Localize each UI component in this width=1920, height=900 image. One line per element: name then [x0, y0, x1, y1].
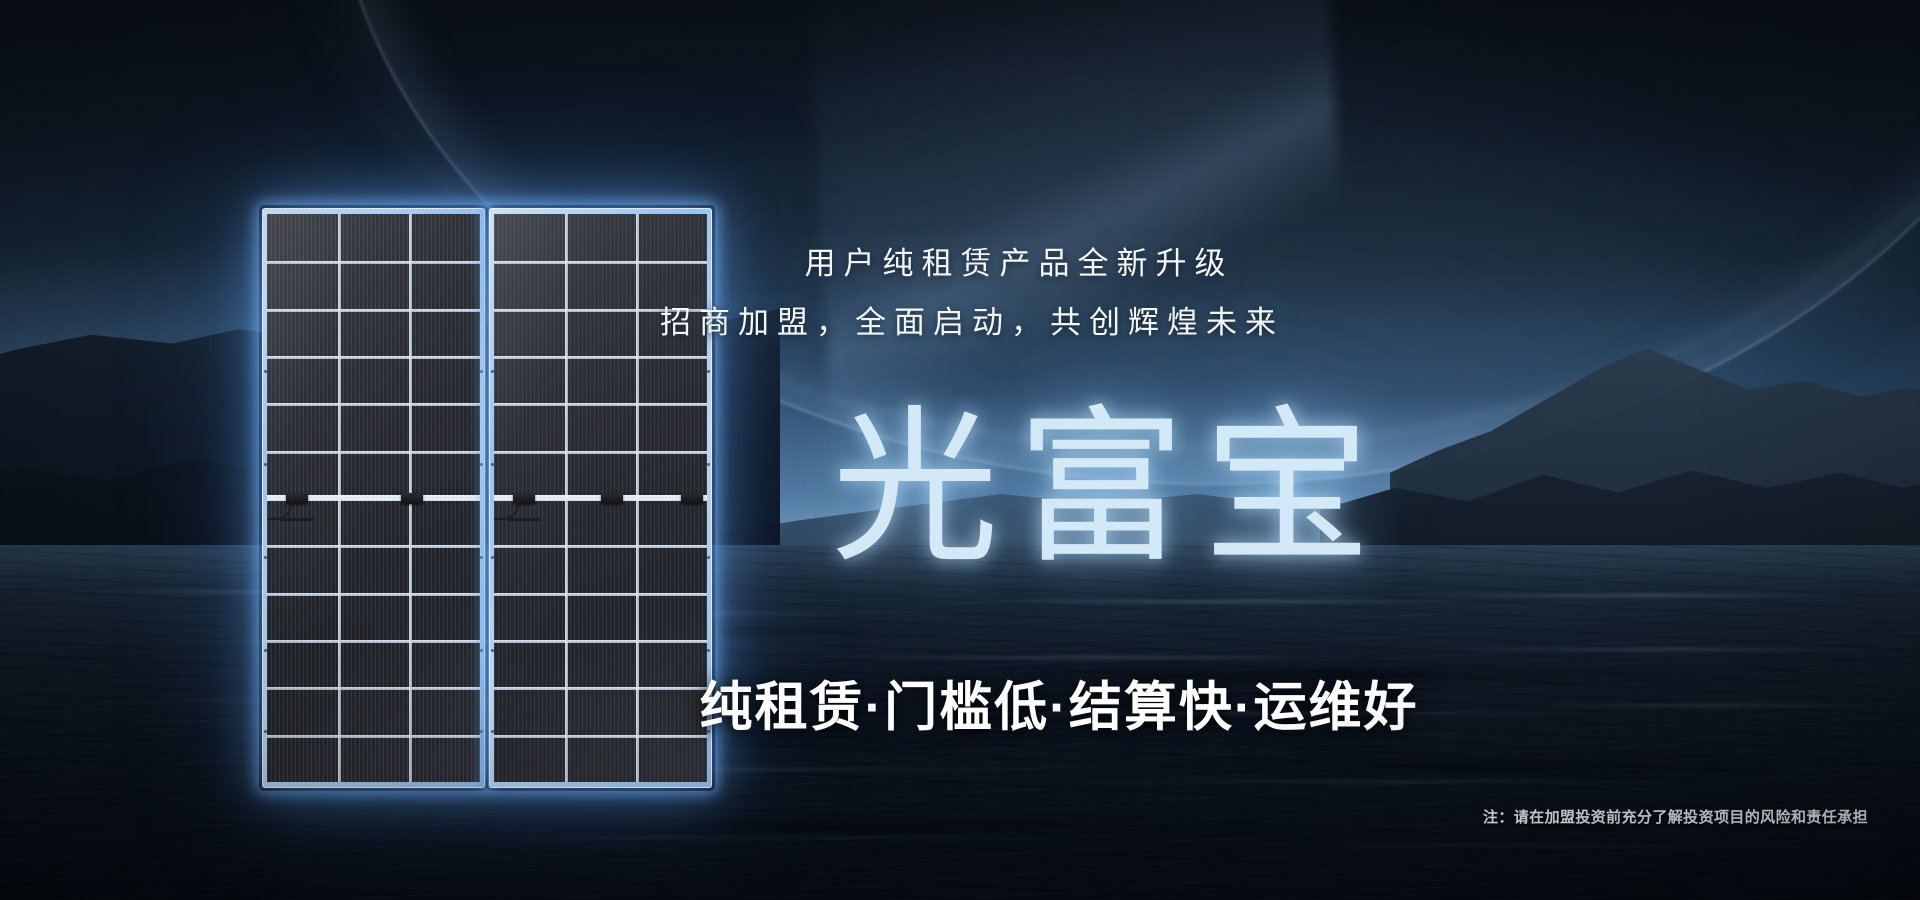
poster-canvas: 用户纯租赁产品全新升级 招商加盟，全面启动，共创辉煌未来 光富宝 纯租赁·门槛低…	[0, 0, 1920, 900]
junction-box	[601, 493, 623, 504]
water-wave	[900, 600, 1500, 603]
frame-screw	[480, 370, 483, 373]
disclaimer-note: 注：请在加盟投资前充分了解投资项目的风险和责任承担	[1483, 806, 1868, 827]
light-streak	[808, 0, 1352, 463]
frame-screw	[491, 730, 494, 733]
water-wave	[1380, 594, 1860, 597]
frame-screw	[480, 463, 483, 466]
water-shadow-band	[980, 668, 1700, 682]
water-wave	[240, 836, 1220, 839]
solar-panel-right	[489, 208, 712, 788]
water-wave	[760, 656, 1400, 659]
frame-screw	[707, 649, 710, 652]
water-shadow-band	[420, 820, 1320, 834]
water-shadow-band	[1160, 760, 1780, 774]
water-wave	[1020, 780, 1720, 783]
frame-screw	[264, 649, 267, 652]
frame-screw	[480, 556, 483, 559]
water-wave	[1500, 704, 1900, 707]
frame-screw	[707, 556, 710, 559]
frame-screw	[707, 730, 710, 733]
solar-panel-module	[262, 208, 712, 788]
frame-screw	[264, 730, 267, 733]
frame-screw	[707, 463, 710, 466]
panel-cable-lead	[280, 518, 314, 521]
solar-panel-left	[262, 208, 485, 788]
water-wave	[1200, 844, 1840, 847]
frame-screw	[491, 556, 494, 559]
frame-screw	[264, 556, 267, 559]
water-wave	[860, 712, 1620, 715]
junction-box	[401, 493, 423, 504]
junction-box	[681, 493, 703, 504]
water-wave	[1420, 648, 1880, 651]
panel-cable-lead	[507, 518, 541, 521]
frame-screw	[491, 649, 494, 652]
frame-screw	[480, 730, 483, 733]
frame-screw	[707, 370, 710, 373]
frame-screw	[480, 649, 483, 652]
